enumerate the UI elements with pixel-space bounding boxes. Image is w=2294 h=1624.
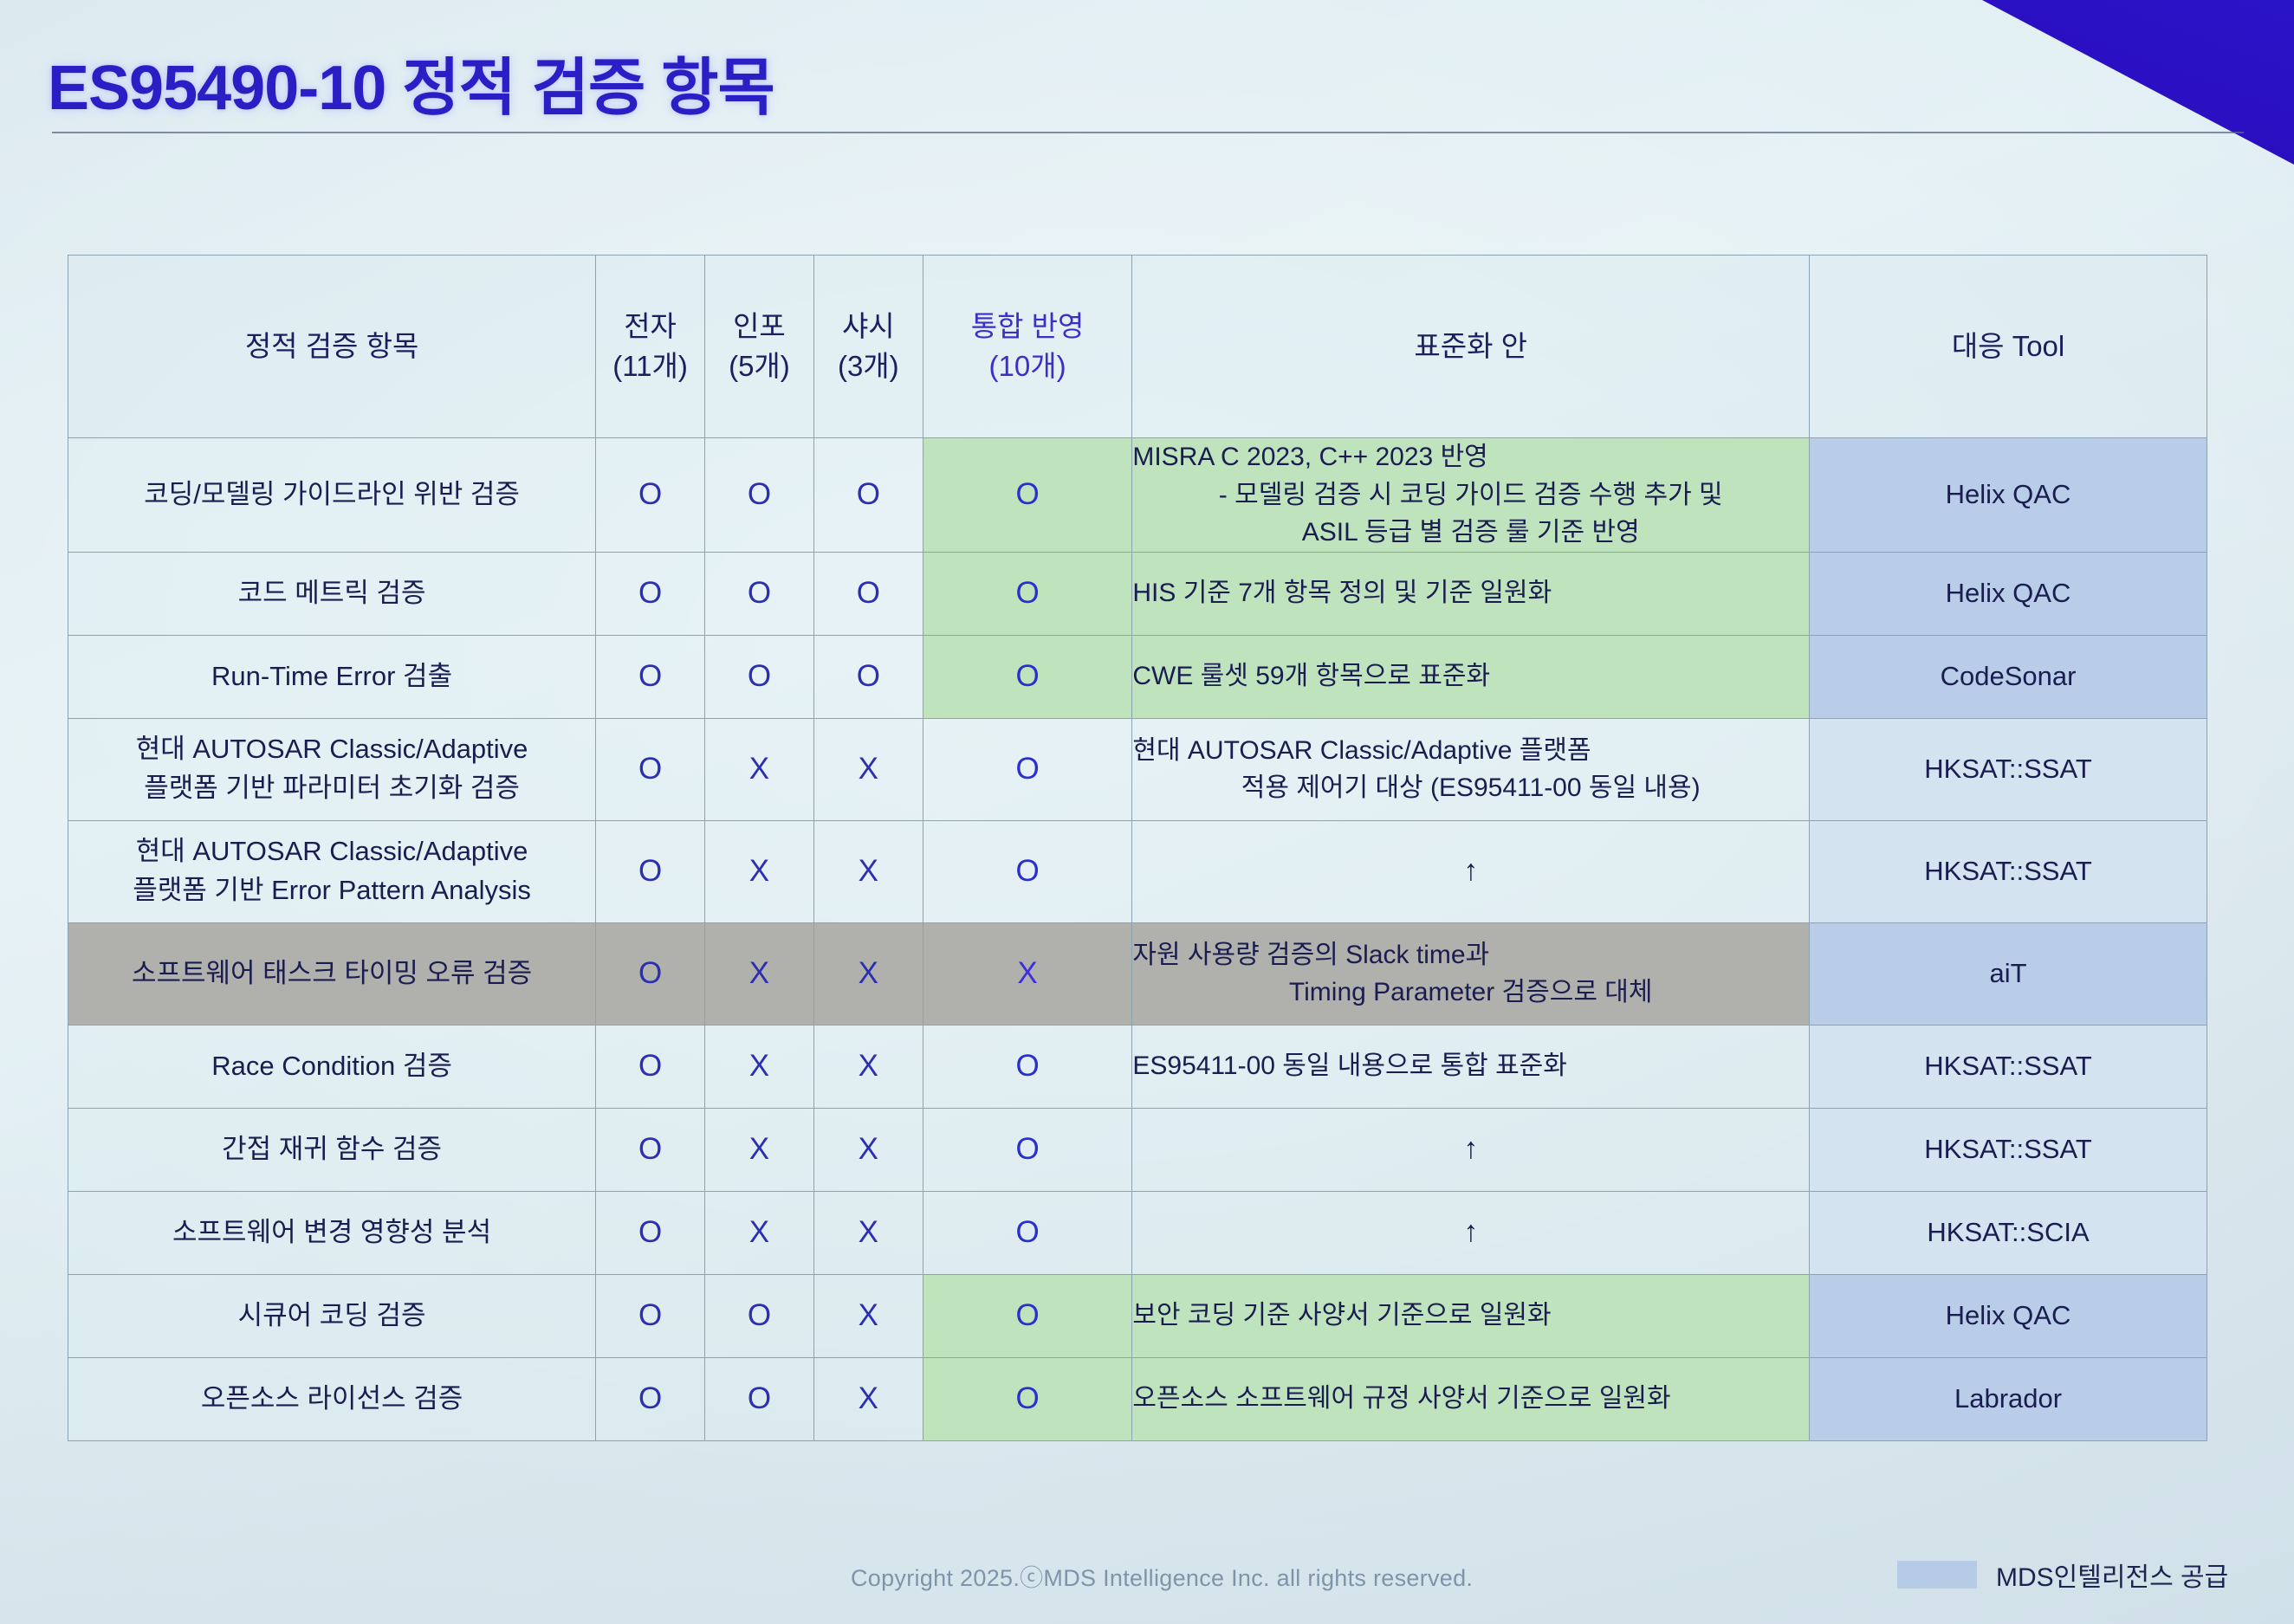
cell-standardization-line1: ES95411-00 동일 내용으로 통합 표준화: [1132, 1047, 1809, 1085]
cell-verification-item-line1: 소프트웨어 변경 영향성 분석: [68, 1213, 595, 1252]
cell-verification-item: 간접 재귀 함수 검증: [68, 1108, 596, 1191]
cell-verification-item-line1: 시큐어 코딩 검증: [68, 1297, 595, 1336]
cell-mark-jeonja: O: [596, 635, 705, 718]
cell-standardization-line2: 적용 제어기 대상 (ES95411-00 동일 내용): [1132, 769, 1809, 807]
table-row: 코드 메트릭 검증OOOOHIS 기준 7개 항목 정의 및 기준 일원화Hel…: [68, 552, 2207, 635]
legend-color-swatch: [1897, 1561, 1977, 1588]
col-header-standardization: 표준화 안: [1132, 256, 1810, 438]
cell-mark-jeonja: O: [596, 552, 705, 635]
table-row: 간접 재귀 함수 검증OXXO↑HKSAT::SSAT: [68, 1108, 2207, 1191]
cell-mark-info: X: [705, 1191, 814, 1274]
col-header-jeonja-line1: 전자: [596, 307, 704, 346]
cell-mark-chassis: O: [813, 552, 923, 635]
cell-tool: aiT: [1810, 922, 2207, 1025]
cell-tool: Helix QAC: [1810, 552, 2207, 635]
copyright-text: Copyright 2025.ⓒMDS Intelligence Inc. al…: [851, 1559, 1473, 1593]
cell-mark-jeonja: O: [596, 718, 705, 820]
cell-standardization-plan: HIS 기준 7개 항목 정의 및 기준 일원화: [1132, 552, 1810, 635]
cell-verification-item: Run-Time Error 검출: [68, 635, 596, 718]
cell-tool: HKSAT::SSAT: [1810, 718, 2207, 820]
cell-verification-item-line1: 현대 AUTOSAR Classic/Adaptive: [68, 730, 595, 769]
col-header-integration-line1: 통합 반영: [923, 307, 1132, 346]
cell-verification-item-line1: Race Condition 검증: [68, 1047, 595, 1086]
cell-mark-jeonja: O: [596, 1108, 705, 1191]
cell-mark-chassis: X: [813, 1274, 923, 1357]
table-row: 시큐어 코딩 검증OOXO보안 코딩 기준 사양서 기준으로 일원화Helix …: [68, 1274, 2207, 1357]
table-row: 소프트웨어 변경 영향성 분석OXXO↑HKSAT::SCIA: [68, 1191, 2207, 1274]
cell-standardization-line2: - 모델링 검증 시 코딩 가이드 검증 수행 추가 및: [1132, 476, 1809, 514]
cell-mark-chassis: X: [813, 1108, 923, 1191]
cell-standardization-plan: MISRA C 2023, C++ 2023 반영- 모델링 검증 시 코딩 가…: [1132, 438, 1810, 553]
col-header-jeonja: 전자 (11개): [596, 256, 705, 438]
cell-standardization-line1: 현대 AUTOSAR Classic/Adaptive 플랫폼: [1132, 732, 1809, 770]
cell-mark-chassis: O: [813, 438, 923, 553]
col-header-chassis-line1: 샤시: [814, 307, 923, 346]
cell-standardization-plan: 현대 AUTOSAR Classic/Adaptive 플랫폼적용 제어기 대상…: [1132, 718, 1810, 820]
table-header: 정적 검증 항목 전자 (11개) 인포 (5개) 샤시 (3개) 통합 반영 …: [68, 256, 2207, 438]
col-header-tool: 대응 Tool: [1810, 256, 2207, 438]
cell-mark-integration: O: [923, 718, 1132, 820]
cell-verification-item-line2: 플랫폼 기반 Error Pattern Analysis: [68, 871, 595, 910]
cell-mark-info: O: [705, 635, 814, 718]
slide-footer: Copyright 2025.ⓒMDS Intelligence Inc. al…: [0, 1559, 2294, 1611]
cell-mark-integration: O: [923, 1274, 1132, 1357]
table-row: 코딩/모델링 가이드라인 위반 검증OOOOMISRA C 2023, C++ …: [68, 438, 2207, 553]
cell-mark-jeonja: O: [596, 438, 705, 553]
cell-standardization-line1: ↑: [1132, 1211, 1809, 1253]
cell-standardization-line2: Timing Parameter 검증으로 대체: [1132, 974, 1809, 1012]
page-title: ES95490-10 정적 검증 항목: [48, 36, 774, 127]
cell-verification-item-line2: 플랫폼 기반 파라미터 초기화 검증: [68, 769, 595, 808]
cell-verification-item-line1: 간접 재귀 함수 검증: [68, 1130, 595, 1169]
cell-standardization-line1: ↑: [1132, 1128, 1809, 1170]
col-header-standardization-line1: 표준화 안: [1132, 327, 1809, 366]
cell-mark-jeonja: O: [596, 820, 705, 922]
cell-standardization-line1: 자원 사용량 검증의 Slack time과: [1132, 936, 1809, 974]
cell-mark-chassis: X: [813, 1357, 923, 1440]
cell-verification-item: 코드 메트릭 검증: [68, 552, 596, 635]
col-header-item-line1: 정적 검증 항목: [68, 327, 595, 366]
cell-tool: HKSAT::SCIA: [1810, 1191, 2207, 1274]
cell-mark-integration: O: [923, 1191, 1132, 1274]
cell-tool: HKSAT::SSAT: [1810, 1025, 2207, 1108]
cell-verification-item-line1: 코딩/모델링 가이드라인 위반 검증: [68, 476, 595, 514]
cell-standardization-line1: CWE 룰셋 59개 항목으로 표준화: [1132, 657, 1809, 696]
cell-mark-info: X: [705, 1108, 814, 1191]
table-row: Run-Time Error 검출OOOOCWE 룰셋 59개 항목으로 표준화…: [68, 635, 2207, 718]
cell-verification-item: 현대 AUTOSAR Classic/Adaptive플랫폼 기반 파라미터 초…: [68, 718, 596, 820]
col-header-chassis-line2: (3개): [814, 346, 923, 386]
col-header-integration: 통합 반영 (10개): [923, 256, 1132, 438]
cell-standardization-plan: 오픈소스 소프트웨어 규정 사양서 기준으로 일원화: [1132, 1357, 1810, 1440]
cell-mark-info: O: [705, 1357, 814, 1440]
cell-mark-chassis: X: [813, 1191, 923, 1274]
col-header-tool-line1: 대응 Tool: [1810, 327, 2207, 366]
table-body: 코딩/모델링 가이드라인 위반 검증OOOOMISRA C 2023, C++ …: [68, 438, 2207, 1441]
cell-mark-info: X: [705, 922, 814, 1025]
cell-mark-jeonja: O: [596, 1025, 705, 1108]
table-header-row: 정적 검증 항목 전자 (11개) 인포 (5개) 샤시 (3개) 통합 반영 …: [68, 256, 2207, 438]
legend-label: MDS인텔리전스 공급: [1996, 1556, 2228, 1594]
cell-tool: Helix QAC: [1810, 438, 2207, 553]
cell-verification-item: Race Condition 검증: [68, 1025, 596, 1108]
cell-verification-item: 현대 AUTOSAR Classic/Adaptive플랫폼 기반 Error …: [68, 820, 596, 922]
cell-mark-integration: O: [923, 635, 1132, 718]
corner-triangle-decoration: [1982, 0, 2294, 165]
cell-mark-chassis: X: [813, 922, 923, 1025]
cell-mark-info: X: [705, 718, 814, 820]
cell-mark-jeonja: O: [596, 1357, 705, 1440]
col-header-info-line2: (5개): [705, 346, 813, 386]
cell-mark-info: O: [705, 1274, 814, 1357]
cell-mark-jeonja: O: [596, 1274, 705, 1357]
col-header-info: 인포 (5개): [705, 256, 814, 438]
col-header-jeonja-line2: (11개): [596, 346, 704, 386]
col-header-info-line1: 인포: [705, 307, 813, 346]
cell-mark-integration: O: [923, 552, 1132, 635]
table-row: 현대 AUTOSAR Classic/Adaptive플랫폼 기반 Error …: [68, 820, 2207, 922]
cell-mark-info: X: [705, 1025, 814, 1108]
cell-mark-integration: O: [923, 1025, 1132, 1108]
cell-mark-integration: O: [923, 438, 1132, 553]
cell-verification-item: 오픈소스 라이선스 검증: [68, 1357, 596, 1440]
table-row: 오픈소스 라이선스 검증OOXO오픈소스 소프트웨어 규정 사양서 기준으로 일…: [68, 1357, 2207, 1440]
cell-mark-jeonja: O: [596, 1191, 705, 1274]
cell-verification-item-line1: 오픈소스 라이선스 검증: [68, 1380, 595, 1419]
cell-standardization-plan: ES95411-00 동일 내용으로 통합 표준화: [1132, 1025, 1810, 1108]
cell-verification-item-line1: 코드 메트릭 검증: [68, 574, 595, 613]
cell-standardization-plan: 자원 사용량 검증의 Slack time과Timing Parameter 검…: [1132, 922, 1810, 1025]
cell-standardization-plan: 보안 코딩 기준 사양서 기준으로 일원화: [1132, 1274, 1810, 1357]
cell-verification-item: 소프트웨어 변경 영향성 분석: [68, 1191, 596, 1274]
cell-standardization-line3: ASIL 등급 별 검증 룰 기준 반영: [1132, 514, 1809, 552]
cell-standardization-plan: CWE 룰셋 59개 항목으로 표준화: [1132, 635, 1810, 718]
cell-verification-item: 코딩/모델링 가이드라인 위반 검증: [68, 438, 596, 553]
cell-verification-item: 시큐어 코딩 검증: [68, 1274, 596, 1357]
static-verification-table: 정적 검증 항목 전자 (11개) 인포 (5개) 샤시 (3개) 통합 반영 …: [68, 255, 2207, 1441]
col-header-integration-line2: (10개): [923, 346, 1132, 386]
cell-standardization-plan: ↑: [1132, 820, 1810, 922]
cell-mark-chassis: X: [813, 1025, 923, 1108]
cell-mark-jeonja: O: [596, 922, 705, 1025]
cell-mark-integration: O: [923, 1108, 1132, 1191]
static-verification-table-wrapper: 정적 검증 항목 전자 (11개) 인포 (5개) 샤시 (3개) 통합 반영 …: [68, 255, 2207, 1441]
cell-mark-chassis: X: [813, 820, 923, 922]
cell-mark-integration: X: [923, 922, 1132, 1025]
cell-mark-info: O: [705, 438, 814, 553]
table-row: 소프트웨어 태스크 타이밍 오류 검증OXXX자원 사용량 검증의 Slack …: [68, 922, 2207, 1025]
cell-standardization-plan: ↑: [1132, 1191, 1810, 1274]
supplier-legend: MDS인텔리전스 공급: [1897, 1556, 2228, 1594]
cell-standardization-line1: MISRA C 2023, C++ 2023 반영: [1132, 438, 1809, 476]
cell-standardization-line1: 오픈소스 소프트웨어 규정 사양서 기준으로 일원화: [1132, 1380, 1809, 1418]
cell-standardization-line1: HIS 기준 7개 항목 정의 및 기준 일원화: [1132, 574, 1809, 612]
cell-tool: Labrador: [1810, 1357, 2207, 1440]
cell-mark-info: X: [705, 820, 814, 922]
cell-tool: CodeSonar: [1810, 635, 2207, 718]
title-divider: [52, 132, 2244, 133]
cell-mark-info: O: [705, 552, 814, 635]
cell-standardization-line1: 보안 코딩 기준 사양서 기준으로 일원화: [1132, 1297, 1809, 1335]
cell-verification-item-line1: 현대 AUTOSAR Classic/Adaptive: [68, 832, 595, 871]
cell-verification-item-line1: Run-Time Error 검출: [68, 657, 595, 696]
cell-verification-item-line1: 소프트웨어 태스크 타이밍 오류 검증: [68, 954, 595, 993]
cell-standardization-plan: ↑: [1132, 1108, 1810, 1191]
cell-mark-integration: O: [923, 820, 1132, 922]
cell-mark-chassis: X: [813, 718, 923, 820]
cell-standardization-line1: ↑: [1132, 850, 1809, 892]
table-row: 현대 AUTOSAR Classic/Adaptive플랫폼 기반 파라미터 초…: [68, 718, 2207, 820]
col-header-chassis: 샤시 (3개): [813, 256, 923, 438]
cell-verification-item: 소프트웨어 태스크 타이밍 오류 검증: [68, 922, 596, 1025]
cell-mark-integration: O: [923, 1357, 1132, 1440]
cell-mark-chassis: O: [813, 635, 923, 718]
cell-tool: HKSAT::SSAT: [1810, 1108, 2207, 1191]
col-header-item: 정적 검증 항목: [68, 256, 596, 438]
table-row: Race Condition 검증OXXOES95411-00 동일 내용으로 …: [68, 1025, 2207, 1108]
cell-tool: HKSAT::SSAT: [1810, 820, 2207, 922]
cell-tool: Helix QAC: [1810, 1274, 2207, 1357]
